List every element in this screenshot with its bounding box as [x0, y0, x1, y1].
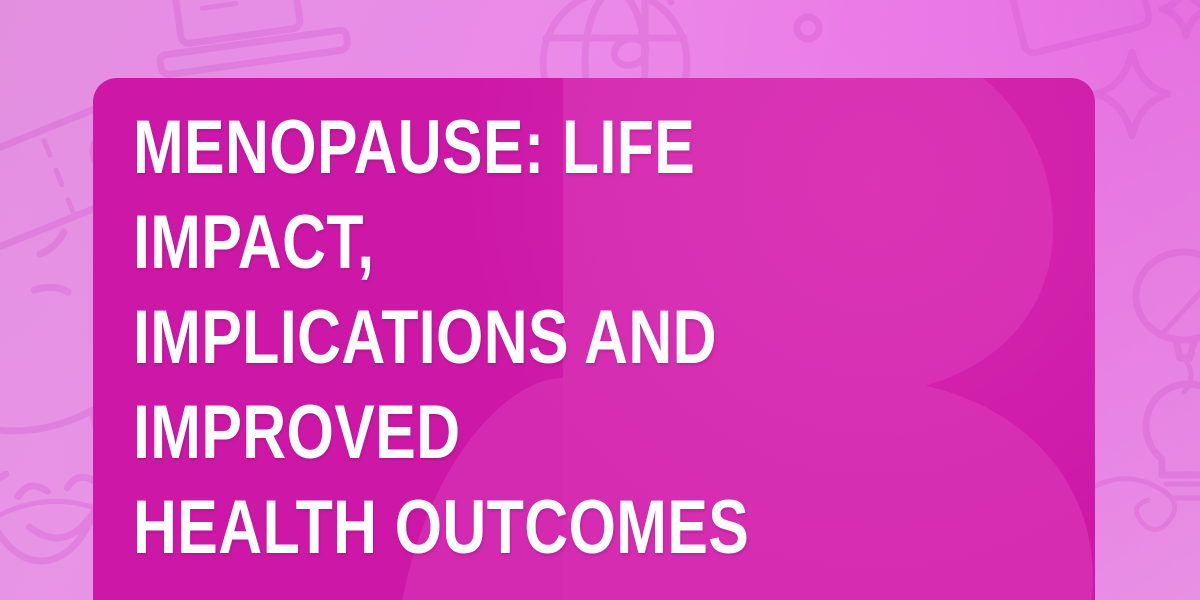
sparkle-icon — [34, 232, 68, 292]
event-banner: Menopause: Life Impact, Implications and… — [0, 0, 1200, 600]
lightbulb-icon — [1146, 384, 1200, 498]
event-card-content: Menopause: Life Impact, Implications and… — [133, 100, 1055, 600]
balloon-icon — [1136, 252, 1200, 392]
dot-icon — [797, 17, 819, 39]
sparkle-icon — [1162, 0, 1200, 36]
sparkle-icon — [1096, 52, 1168, 136]
laptop-icon — [147, 0, 348, 75]
event-date: Thu, 26 Mar, 2026 at 06:30 PM — [133, 575, 871, 600]
calendar-icon — [1000, 0, 1150, 55]
event-title: Menopause: Life Impact, Implications and… — [133, 100, 871, 575]
event-card: Menopause: Life Impact, Implications and… — [93, 78, 1095, 600]
